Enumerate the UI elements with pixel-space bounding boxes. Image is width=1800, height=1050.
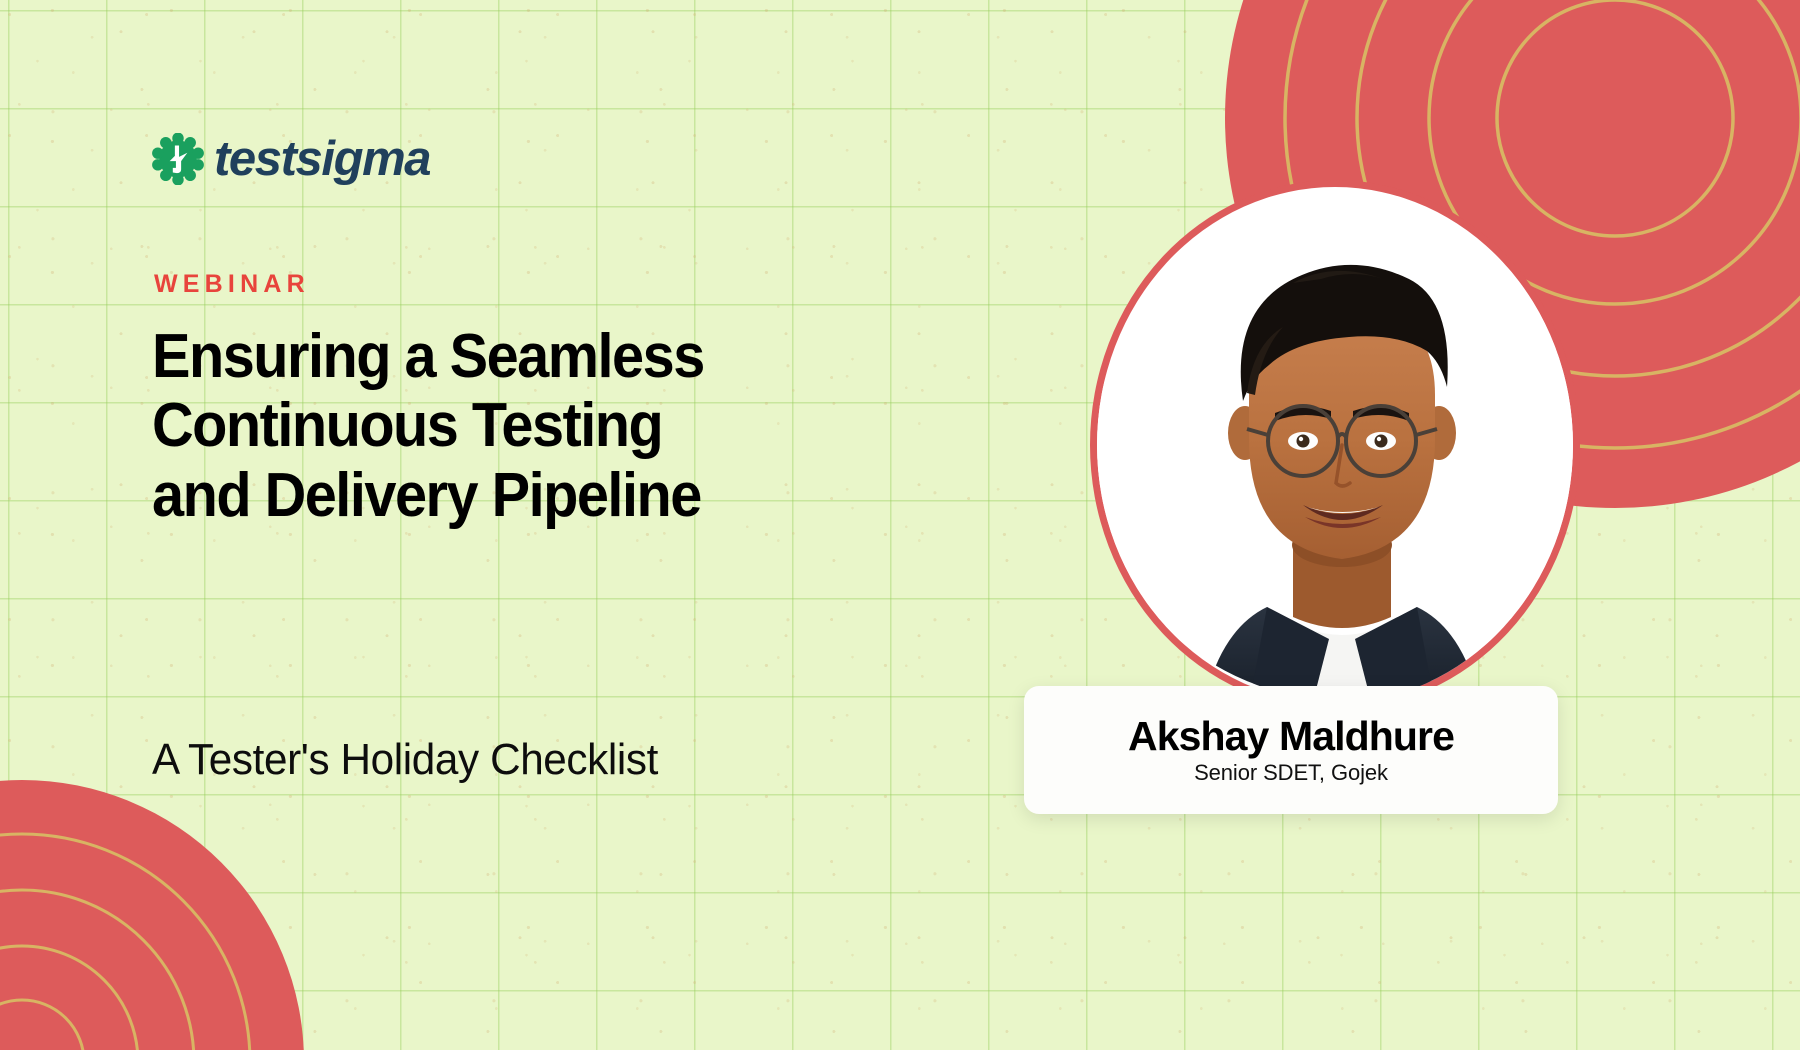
headline-line-3: and Delivery Pipeline [152,461,859,530]
content-column: testsigma WEBINAR Ensuring a Seamless Co… [152,0,912,1050]
brand-logo[interactable]: testsigma [152,133,430,185]
speaker-role: Senior SDET, Gojek [1194,762,1388,784]
portrait-ring [1090,180,1580,710]
headline-line-1: Ensuring a Seamless [152,322,859,391]
brand-wordmark: testsigma [214,135,430,184]
speaker-name-card: Akshay Maldhure Senior SDET, Gojek [1024,686,1558,814]
page-title: Ensuring a Seamless Continuous Testing a… [152,322,859,530]
testsigma-gear-icon [152,133,204,185]
page-subtitle: A Tester's Holiday Checklist [152,735,658,785]
speaker-name: Akshay Maldhure [1128,716,1454,757]
speaker-portrait [1090,180,1580,710]
webinar-eyebrow-label: WEBINAR [154,270,310,299]
portrait-illustration [1097,187,1580,710]
poster-canvas: Akshay Maldhure Senior SDET, Gojek [0,0,1800,1050]
headline-line-2: Continuous Testing [152,391,859,460]
